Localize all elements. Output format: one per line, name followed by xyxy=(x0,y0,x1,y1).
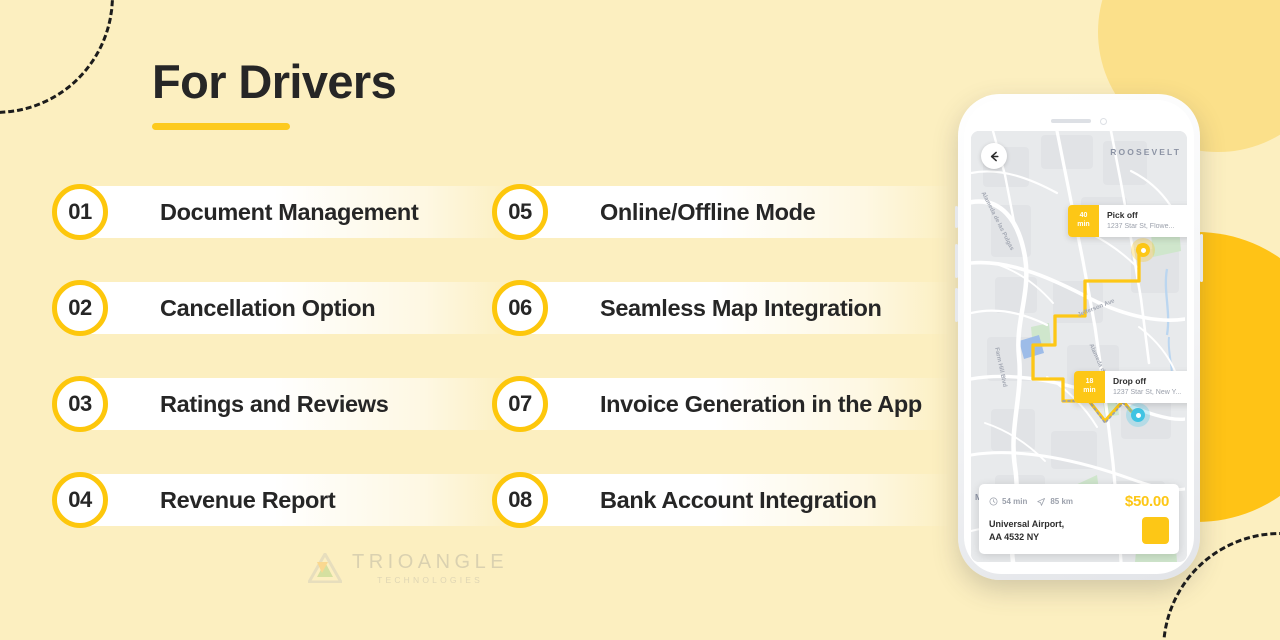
dropoff-card-body: Drop off 1237 Star St, New Y... xyxy=(1105,371,1187,403)
dropoff-map-pin[interactable] xyxy=(1126,403,1150,427)
dropoff-pin-ring xyxy=(1131,408,1145,422)
phone-button-volume-down xyxy=(955,288,958,322)
dropoff-eta-unit: min xyxy=(1083,387,1095,396)
phone-button-mute xyxy=(955,206,958,228)
feature-number-badge: 01 xyxy=(52,184,108,240)
trip-summary-card[interactable]: 54 min 85 km $50.00 xyxy=(979,484,1179,554)
dropoff-eta-badge: 18 min xyxy=(1074,371,1105,403)
trip-destination: Universal Airport, AA 4532 NY xyxy=(989,518,1064,544)
feature-number-badge: 08 xyxy=(492,472,548,528)
feature-label: Revenue Report xyxy=(160,487,335,514)
pickup-title: Pick off xyxy=(1107,211,1174,220)
phone-screen: Alameda de las Pulgas Jefferson Ave Farm… xyxy=(971,131,1187,562)
feature-number-badge: 05 xyxy=(492,184,548,240)
pickup-eta-badge: 40 min xyxy=(1068,205,1099,237)
watermark-subtitle: TECHNOLOGIES xyxy=(352,576,508,585)
pickup-pin-dot xyxy=(1141,248,1146,253)
phone-notch xyxy=(964,110,1194,132)
map-district-label-top: ROOSEVELT xyxy=(1110,147,1181,157)
decorative-dashed-arc-top-left xyxy=(0,0,114,114)
feature-number-badge: 06 xyxy=(492,280,548,336)
feature-number-badge: 04 xyxy=(52,472,108,528)
feature-label: Online/Offline Mode xyxy=(600,199,815,226)
pickup-map-pin[interactable] xyxy=(1131,238,1155,262)
watermark: TRIOANGLE TECHNOLOGIES xyxy=(308,552,508,585)
pickup-pin-ring xyxy=(1136,243,1150,257)
navigation-arrow-icon xyxy=(1036,497,1046,507)
phone-button-volume-up xyxy=(955,244,958,278)
feature-number-badge: 03 xyxy=(52,376,108,432)
trip-duration: 54 min xyxy=(989,497,1027,506)
feature-item[interactable]: 01 Document Management xyxy=(52,175,512,249)
pickup-card-body: Pick off 1237 Star St, Flowe... xyxy=(1099,205,1180,237)
phone-speaker-icon xyxy=(1051,119,1091,123)
pickup-eta-value: 40 xyxy=(1080,212,1088,221)
phone-camera-icon xyxy=(1100,118,1107,125)
dropoff-title: Drop off xyxy=(1113,377,1181,386)
trip-duration-value: 54 min xyxy=(1002,497,1027,506)
feature-column-right: 05 Online/Offline Mode 06 Seamless Map I… xyxy=(492,175,952,559)
dropoff-card[interactable]: 18 min Drop off 1237 Star St, New Y... xyxy=(1074,371,1187,403)
feature-item[interactable]: 06 Seamless Map Integration xyxy=(492,271,952,345)
trip-action-button[interactable] xyxy=(1142,517,1169,544)
feature-item[interactable]: 04 Revenue Report xyxy=(52,463,512,537)
feature-item[interactable]: 03 Ratings and Reviews xyxy=(52,367,512,441)
clock-icon xyxy=(989,497,998,506)
phone-button-power xyxy=(1200,234,1203,282)
dropoff-pin-dot xyxy=(1136,413,1141,418)
pickup-address: 1237 Star St, Flowe... xyxy=(1107,223,1174,230)
feature-item[interactable]: 05 Online/Offline Mode xyxy=(492,175,952,249)
watermark-text: TRIOANGLE TECHNOLOGIES xyxy=(352,552,508,585)
feature-label: Invoice Generation in the App xyxy=(600,391,922,418)
phone-body: Alameda de las Pulgas Jefferson Ave Farm… xyxy=(964,100,1194,574)
feature-label: Cancellation Option xyxy=(160,295,375,322)
back-arrow-icon[interactable] xyxy=(981,143,1007,169)
feature-item[interactable]: 02 Cancellation Option xyxy=(52,271,512,345)
feature-number-badge: 02 xyxy=(52,280,108,336)
trip-price: $50.00 xyxy=(1125,493,1169,510)
title-underline xyxy=(152,123,290,130)
pickup-card[interactable]: 40 min Pick off 1237 Star St, Flowe... xyxy=(1068,205,1187,237)
trip-metrics-row: 54 min 85 km $50.00 xyxy=(989,493,1169,510)
feature-label: Ratings and Reviews xyxy=(160,391,388,418)
feature-label: Seamless Map Integration xyxy=(600,295,882,322)
trioangle-logo-icon xyxy=(308,553,342,583)
feature-label: Bank Account Integration xyxy=(600,487,877,514)
infographic-canvas: For Drivers 01 Document Management 02 Ca… xyxy=(0,0,1280,640)
feature-item[interactable]: 08 Bank Account Integration xyxy=(492,463,952,537)
page-title: For Drivers xyxy=(152,58,396,105)
feature-column-left: 01 Document Management 02 Cancellation O… xyxy=(52,175,512,559)
trip-destination-row: Universal Airport, AA 4532 NY xyxy=(989,517,1169,544)
map-view[interactable]: Alameda de las Pulgas Jefferson Ave Farm… xyxy=(971,131,1187,562)
trip-distance-value: 85 km xyxy=(1050,497,1073,506)
phone-mockup: Alameda de las Pulgas Jefferson Ave Farm… xyxy=(958,94,1200,580)
feature-label: Document Management xyxy=(160,199,418,226)
feature-number-badge: 07 xyxy=(492,376,548,432)
trip-distance: 85 km xyxy=(1036,497,1073,507)
trip-destination-line1: Universal Airport, xyxy=(989,518,1064,531)
page-heading: For Drivers xyxy=(152,58,396,130)
dropoff-eta-value: 18 xyxy=(1086,378,1094,387)
feature-item[interactable]: 07 Invoice Generation in the App xyxy=(492,367,952,441)
watermark-name: TRIOANGLE xyxy=(352,552,508,572)
trip-destination-line2: AA 4532 NY xyxy=(989,531,1064,544)
dropoff-address: 1237 Star St, New Y... xyxy=(1113,389,1181,396)
pickup-eta-unit: min xyxy=(1077,221,1089,230)
